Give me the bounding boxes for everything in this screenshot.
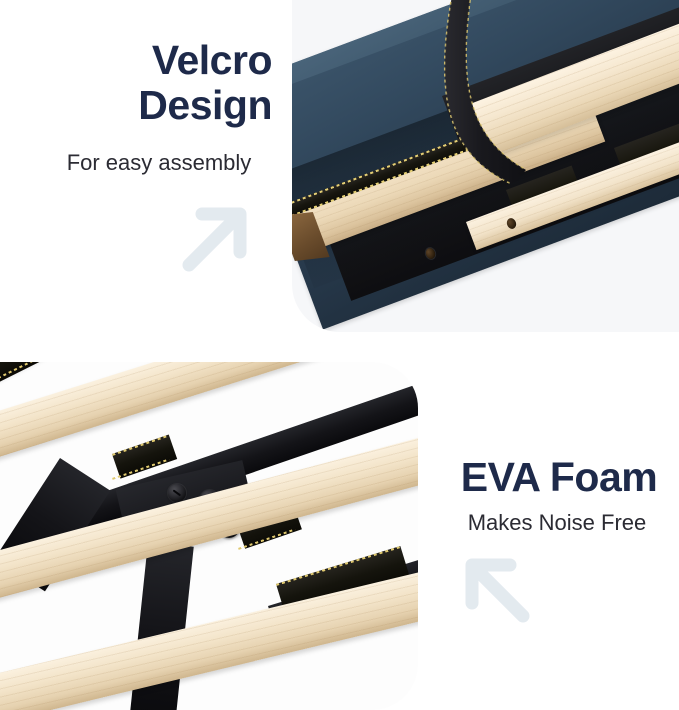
eva-feature-text-panel: EVA Foam Makes Noise Free [418, 355, 679, 710]
eva-subtitle: Makes Noise Free [438, 510, 676, 536]
eva-foam-pad [0, 362, 72, 395]
wood-grain-texture [0, 570, 418, 710]
velcro-feature-photo [292, 0, 679, 332]
velcro-headline: Velcro Design [32, 38, 272, 128]
bolt-head [168, 484, 186, 502]
arrow-up-right-icon [178, 200, 254, 276]
velcro-feature-text-panel: Velcro Design For easy assembly [0, 0, 292, 355]
velcro-headline-line2: Design [32, 83, 272, 128]
velcro-strap [440, 0, 532, 184]
eva-feature-photo [0, 362, 418, 710]
arrow-up-left-icon [458, 551, 534, 627]
eva-headline: EVA Foam [448, 455, 670, 500]
infographic-canvas: Velcro Design For easy assembly [0, 0, 679, 710]
velcro-subtitle: For easy assembly [46, 150, 272, 176]
velcro-headline-line1: Velcro [152, 37, 272, 83]
